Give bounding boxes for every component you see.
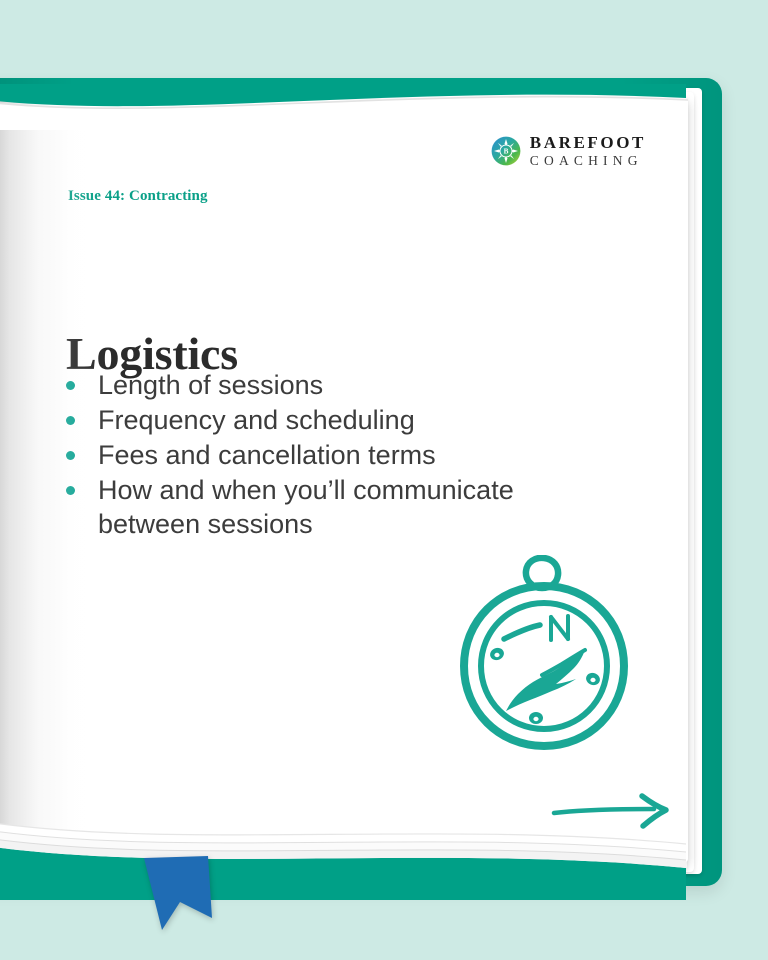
brand-name-secondary: COACHING — [530, 154, 646, 168]
brand-logo-wordmark: BAREFOOT COACHING — [530, 134, 646, 168]
logo-monogram: B — [503, 147, 508, 155]
bullet-dot-icon — [66, 416, 75, 425]
list-item: Frequency and scheduling — [66, 403, 606, 437]
list-item-label: Length of sessions — [98, 368, 323, 402]
bullet-dot-icon — [66, 486, 75, 495]
bullet-list: Length of sessions Frequency and schedul… — [66, 368, 606, 542]
list-item: How and when you’ll communicate between … — [66, 473, 606, 541]
list-item: Length of sessions — [66, 368, 606, 402]
list-item-label: How and when you’ll communicate between … — [98, 473, 606, 541]
list-item: Fees and cancellation terms — [66, 438, 606, 472]
hand-drawn-compass-icon — [456, 555, 631, 760]
hand-drawn-right-arrow-icon — [550, 790, 680, 832]
compass-rose-logo-icon: B — [491, 136, 521, 166]
brand-logo: B BAREFOOT COACHING — [491, 134, 646, 168]
list-item-label: Frequency and scheduling — [98, 403, 415, 437]
list-item-label: Fees and cancellation terms — [98, 438, 436, 472]
page-content: B BAREFOOT COACHING Issue 44: Contractin… — [0, 100, 688, 862]
slide-root: B BAREFOOT COACHING Issue 44: Contractin… — [0, 0, 768, 960]
bullet-dot-icon — [66, 381, 75, 390]
bullet-dot-icon — [66, 451, 75, 460]
page-main: B BAREFOOT COACHING Issue 44: Contractin… — [0, 100, 688, 862]
issue-label: Issue 44: Contracting — [68, 188, 208, 205]
bookmark-ribbon-icon — [142, 856, 214, 932]
brand-name-primary: BAREFOOT — [530, 134, 646, 151]
